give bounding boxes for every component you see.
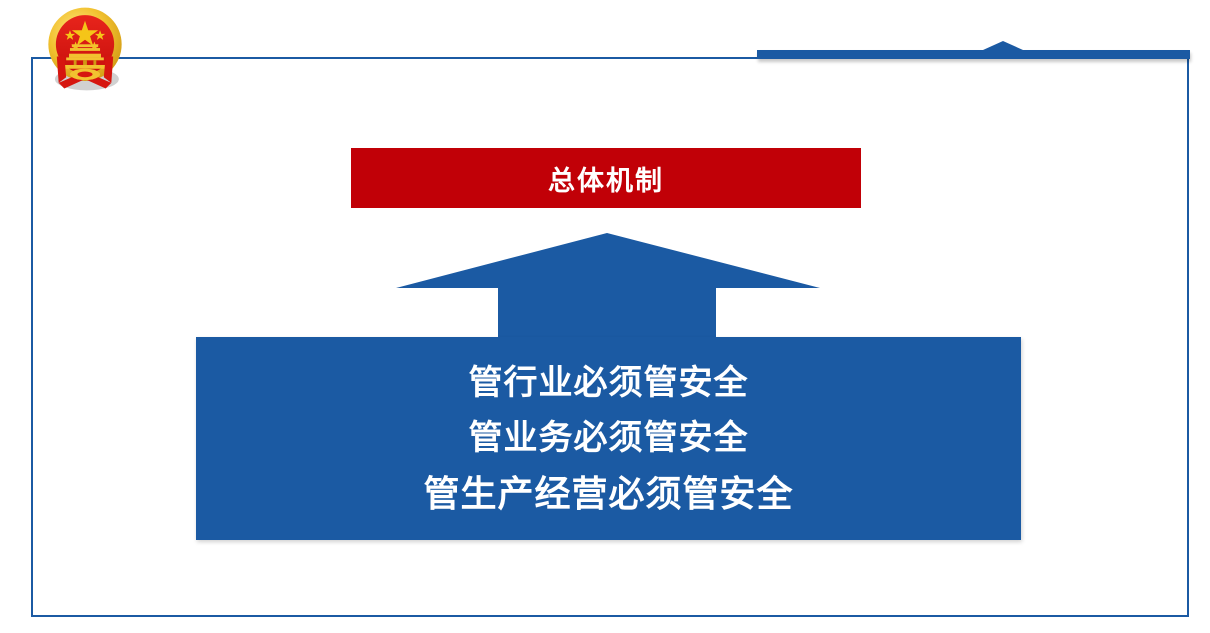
safety-principle-line-3: 管生产经营必须管安全: [423, 476, 793, 512]
overall-mechanism-title-box: 总体机制: [351, 148, 861, 208]
decorative-bar-notch-icon: [983, 41, 1023, 50]
overall-mechanism-title-label: 总体机制: [548, 159, 664, 198]
up-arrow-icon: [396, 233, 820, 343]
safety-principle-line-2: 管业务必须管安全: [469, 421, 749, 455]
safety-principles-box: 管行业必须管安全 管业务必须管安全 管生产经营必须管安全: [196, 337, 1021, 540]
decorative-top-bar: [757, 50, 1190, 59]
china-national-emblem-icon: [38, 2, 132, 96]
slide-canvas: 总体机制 管行业必须管安全 管业务必须管安全 管生产经营必须管安全: [0, 0, 1210, 633]
safety-principle-line-1: 管行业必须管安全: [469, 366, 749, 400]
